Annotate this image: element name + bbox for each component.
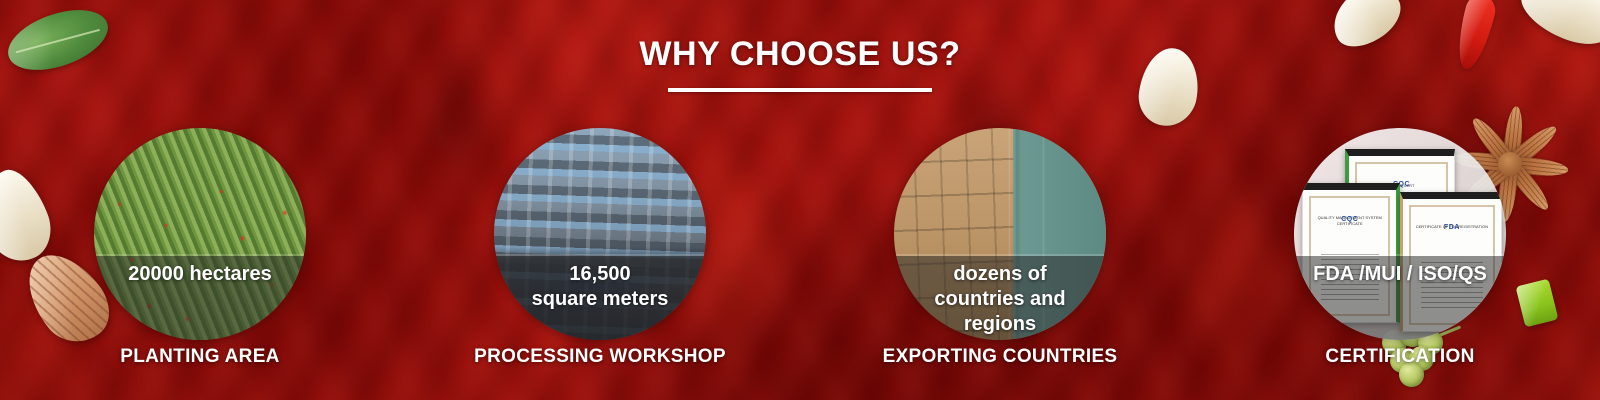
circle-photo-mask: CQC HACCP CERT CQC QUALITY MANAGEMENT SY… xyxy=(1294,128,1506,340)
feature-circle-exporting-countries[interactable]: dozens of countries and regions xyxy=(894,128,1106,340)
certificate-body-lines xyxy=(1421,262,1483,308)
circle-photo-mask: dozens of countries and regions xyxy=(894,128,1106,340)
certificate-fda: FDA CERTIFICATE OF FDA REGISTRATION xyxy=(1400,192,1502,332)
feature-caption-planting-area: PLANTING AREA xyxy=(0,346,400,368)
why-choose-us-banner: WHY CHOOSE US? 20000 hectares PLANTING A… xyxy=(0,0,1600,400)
feature-caption-processing-workshop: PROCESSING WORKSHOP xyxy=(400,346,800,368)
fda-seal-icon: FDA xyxy=(1444,225,1460,231)
garlic-clove-icon xyxy=(1520,0,1600,38)
feature-planting-area[interactable]: 20000 hectares PLANTING AREA xyxy=(0,128,400,388)
feature-exporting-countries[interactable]: dozens of countries and regions EXPORTIN… xyxy=(800,128,1200,388)
title-underline xyxy=(668,88,932,92)
circle-photo-mask: 16,500 square meters xyxy=(494,128,706,340)
feature-circle-planting-area[interactable]: 20000 hectares xyxy=(94,128,306,340)
feature-caption-exporting-countries: EXPORTING COUNTRIES xyxy=(800,346,1200,368)
chili-field-photo xyxy=(94,128,306,340)
certificate-body-lines xyxy=(1321,254,1379,300)
certificates-photo: CQC HACCP CERT CQC QUALITY MANAGEMENT SY… xyxy=(1294,128,1506,340)
shipping-container-photo xyxy=(894,128,1106,340)
warehouse-photo xyxy=(494,128,706,340)
circle-photo-mask: 20000 hectares xyxy=(94,128,306,340)
feature-row: 20000 hectares PLANTING AREA 16,500 squa… xyxy=(0,128,1600,388)
feature-processing-workshop[interactable]: 16,500 square meters PROCESSING WORKSHOP xyxy=(400,128,800,388)
title-block: WHY CHOOSE US? xyxy=(0,34,1600,92)
cqc-seal-icon: CQC xyxy=(1341,217,1358,223)
feature-circle-processing-workshop[interactable]: 16,500 square meters xyxy=(494,128,706,340)
feature-circle-certification[interactable]: CQC HACCP CERT CQC QUALITY MANAGEMENT SY… xyxy=(1294,128,1506,340)
feature-certification[interactable]: CQC HACCP CERT CQC QUALITY MANAGEMENT SY… xyxy=(1200,128,1600,388)
page-title: WHY CHOOSE US? xyxy=(0,34,1600,74)
certificate-quality-management: CQC QUALITY MANAGEMENT SYSTEM CERTIFICAT… xyxy=(1302,183,1400,323)
feature-caption-certification: CERTIFICATION xyxy=(1200,346,1600,368)
